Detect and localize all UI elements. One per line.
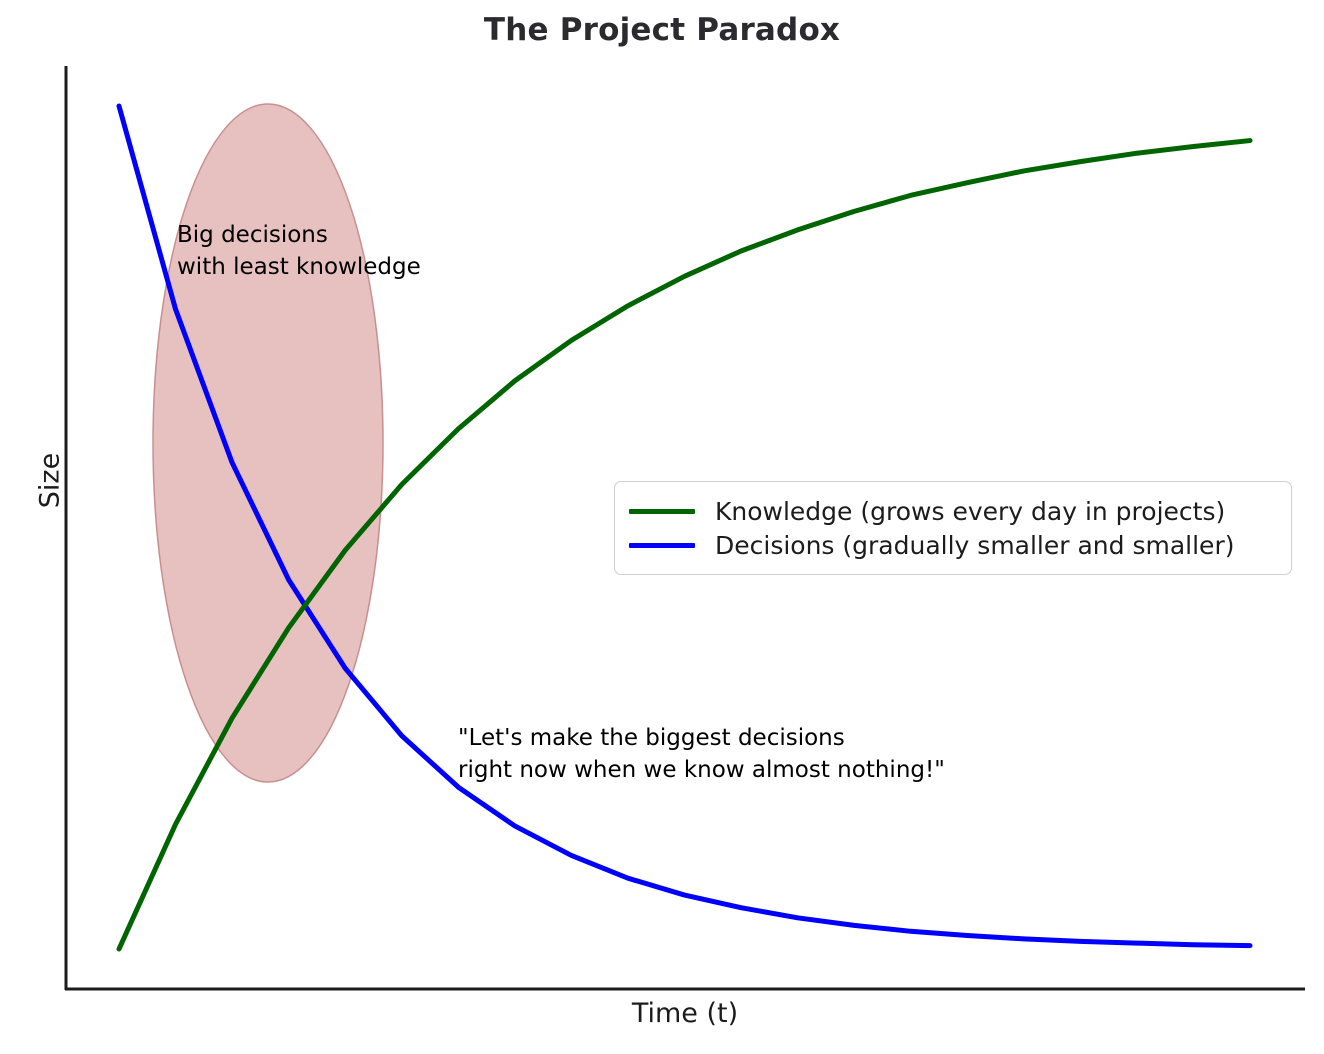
highlight-region-ellipse <box>153 104 383 782</box>
y-axis-label: Size <box>35 416 66 546</box>
legend-item-decisions[interactable]: Decisions (gradually smaller and smaller… <box>629 528 1275 562</box>
legend-label-decisions: Decisions (gradually smaller and smaller… <box>715 531 1234 560</box>
chart-figure: The Project Paradox Size Time (t) Big de… <box>0 0 1324 1054</box>
legend-swatch-decisions <box>629 543 695 548</box>
legend-label-knowledge: Knowledge (grows every day in projects) <box>715 497 1225 526</box>
chart-legend: Knowledge (grows every day in projects) … <box>614 481 1292 575</box>
annotation-big-decisions: Big decisions with least knowledge <box>177 220 421 283</box>
legend-item-knowledge[interactable]: Knowledge (grows every day in projects) <box>629 494 1275 528</box>
legend-swatch-knowledge <box>629 509 695 514</box>
annotation-quote: "Let's make the biggest decisions right … <box>458 723 945 786</box>
x-axis-label: Time (t) <box>65 998 1305 1029</box>
